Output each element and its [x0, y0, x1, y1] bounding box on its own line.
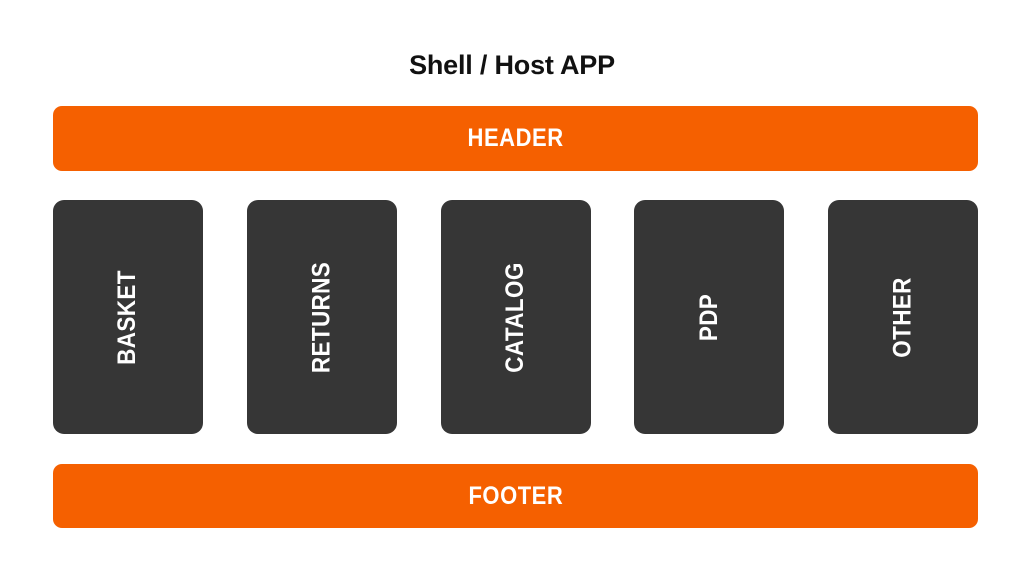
module-card-returns: RETURNS: [247, 200, 397, 434]
modules-row: BASKET RETURNS CATALOG PDP OTHER: [53, 200, 978, 434]
header-block-label: HEADER: [467, 124, 563, 153]
module-card-label: OTHER: [889, 277, 918, 358]
diagram-canvas: Shell / Host APP HEADER BASKET RETURNS C…: [0, 0, 1024, 576]
footer-block-label: FOOTER: [468, 482, 563, 511]
module-card-label: RETURNS: [307, 261, 336, 372]
header-block: HEADER: [53, 106, 978, 171]
module-card-other: OTHER: [828, 200, 978, 434]
footer-block: FOOTER: [53, 464, 978, 528]
module-card-label: CATALOG: [501, 262, 530, 372]
module-card-label: PDP: [695, 293, 724, 340]
page-title: Shell / Host APP: [0, 48, 1024, 82]
module-card-catalog: CATALOG: [441, 200, 591, 434]
module-card-pdp: PDP: [634, 200, 784, 434]
module-card-label: BASKET: [114, 270, 143, 365]
module-card-basket: BASKET: [53, 200, 203, 434]
